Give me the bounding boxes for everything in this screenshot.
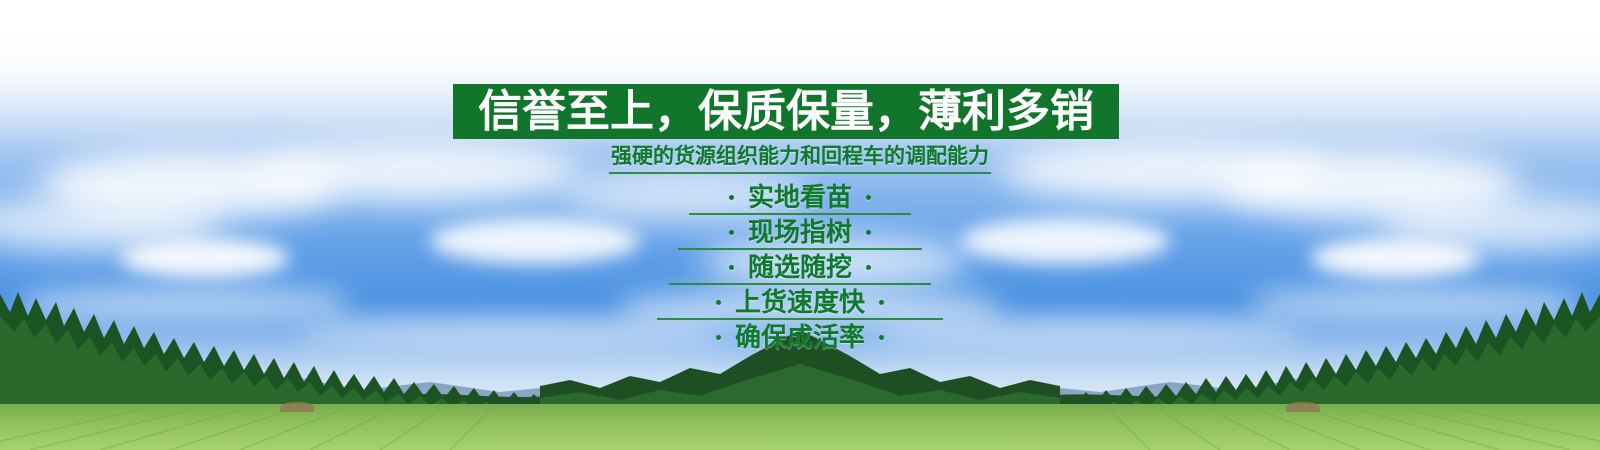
banner-content: 信誉至上，保质保量，薄利多销 强硬的货源组织能力和回程车的调配能力 实地看苗 现… xyxy=(0,0,1600,450)
feature-row: 实地看苗 xyxy=(0,180,1600,215)
bullet-dot-icon xyxy=(866,265,871,270)
bullet-dot-icon xyxy=(879,335,884,340)
subtitle-text: 强硬的货源组织能力和回程车的调配能力 xyxy=(609,143,991,174)
bullet-dot-icon xyxy=(879,300,884,305)
headline-bar: 信誉至上，保质保量，薄利多销 xyxy=(453,84,1119,139)
bullet-dot-icon xyxy=(866,195,871,200)
feature-inner: 随选随挖 xyxy=(729,250,871,285)
feature-inner: 确保成活率 xyxy=(716,320,884,355)
feature-row: 现场指树 xyxy=(0,215,1600,250)
feature-row: 随选随挖 xyxy=(0,250,1600,285)
bullet-dot-icon xyxy=(866,230,871,235)
feature-label: 确保成活率 xyxy=(721,325,879,351)
headline-text: 信誉至上，保质保量，薄利多销 xyxy=(478,90,1094,134)
feature-label: 随选随挖 xyxy=(734,255,866,281)
promo-banner: 信誉至上，保质保量，薄利多销 强硬的货源组织能力和回程车的调配能力 实地看苗 现… xyxy=(0,0,1600,450)
subtitle-wrap: 强硬的货源组织能力和回程车的调配能力 xyxy=(0,143,1600,174)
feature-inner: 实地看苗 xyxy=(729,180,871,215)
feature-row: 确保成活率 xyxy=(0,320,1600,355)
feature-inner: 现场指树 xyxy=(729,215,871,250)
feature-label: 实地看苗 xyxy=(734,185,866,211)
feature-label: 上货速度快 xyxy=(721,290,879,316)
feature-label: 现场指树 xyxy=(734,220,866,246)
feature-row: 上货速度快 xyxy=(0,285,1600,320)
feature-inner: 上货速度快 xyxy=(716,285,884,320)
feature-list: 实地看苗 现场指树 随选随挖 xyxy=(0,180,1600,355)
